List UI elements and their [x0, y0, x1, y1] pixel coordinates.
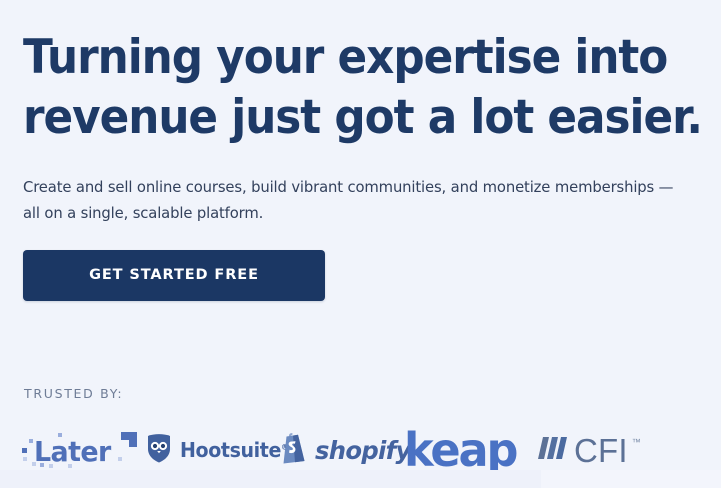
- later-wordmark: Later: [34, 435, 111, 468]
- bottom-band-right-segment: [541, 470, 721, 488]
- hero-subheading: Create and sell online courses, build vi…: [23, 174, 682, 226]
- hootsuite-owl-shield-icon: [146, 433, 172, 468]
- logo-shopify[interactable]: shopify: [280, 428, 408, 472]
- get-started-free-button[interactable]: GET STARTED FREE: [23, 250, 325, 301]
- logo-cfi[interactable]: CFI ™: [536, 428, 671, 472]
- cfi-trademark: ™: [632, 437, 641, 447]
- logo-keap[interactable]: keap: [404, 428, 532, 472]
- cfi-bars-icon: [536, 435, 570, 466]
- page-title: Turning your expertise into revenue just…: [23, 28, 655, 148]
- keap-wordmark-icon: keap: [404, 427, 516, 473]
- headline-line-1: Turning your expertise into: [23, 28, 655, 88]
- headline-line-2: revenue just got a lot easier.: [23, 88, 655, 148]
- logo-later[interactable]: Later: [22, 428, 150, 472]
- shopify-wordmark: shopify: [315, 436, 411, 465]
- logo-hootsuite[interactable]: Hootsuite®: [146, 428, 281, 472]
- bottom-band: [0, 470, 721, 488]
- cfi-wordmark: CFI: [574, 434, 628, 467]
- hootsuite-wordmark: Hootsuite®: [180, 438, 288, 462]
- shopify-bag-icon: [280, 432, 308, 469]
- trusted-by-logo-row: Later: [18, 424, 708, 472]
- hero-section: Turning your expertise into revenue just…: [0, 0, 721, 470]
- trusted-by-label: TRUSTED BY:: [24, 386, 123, 401]
